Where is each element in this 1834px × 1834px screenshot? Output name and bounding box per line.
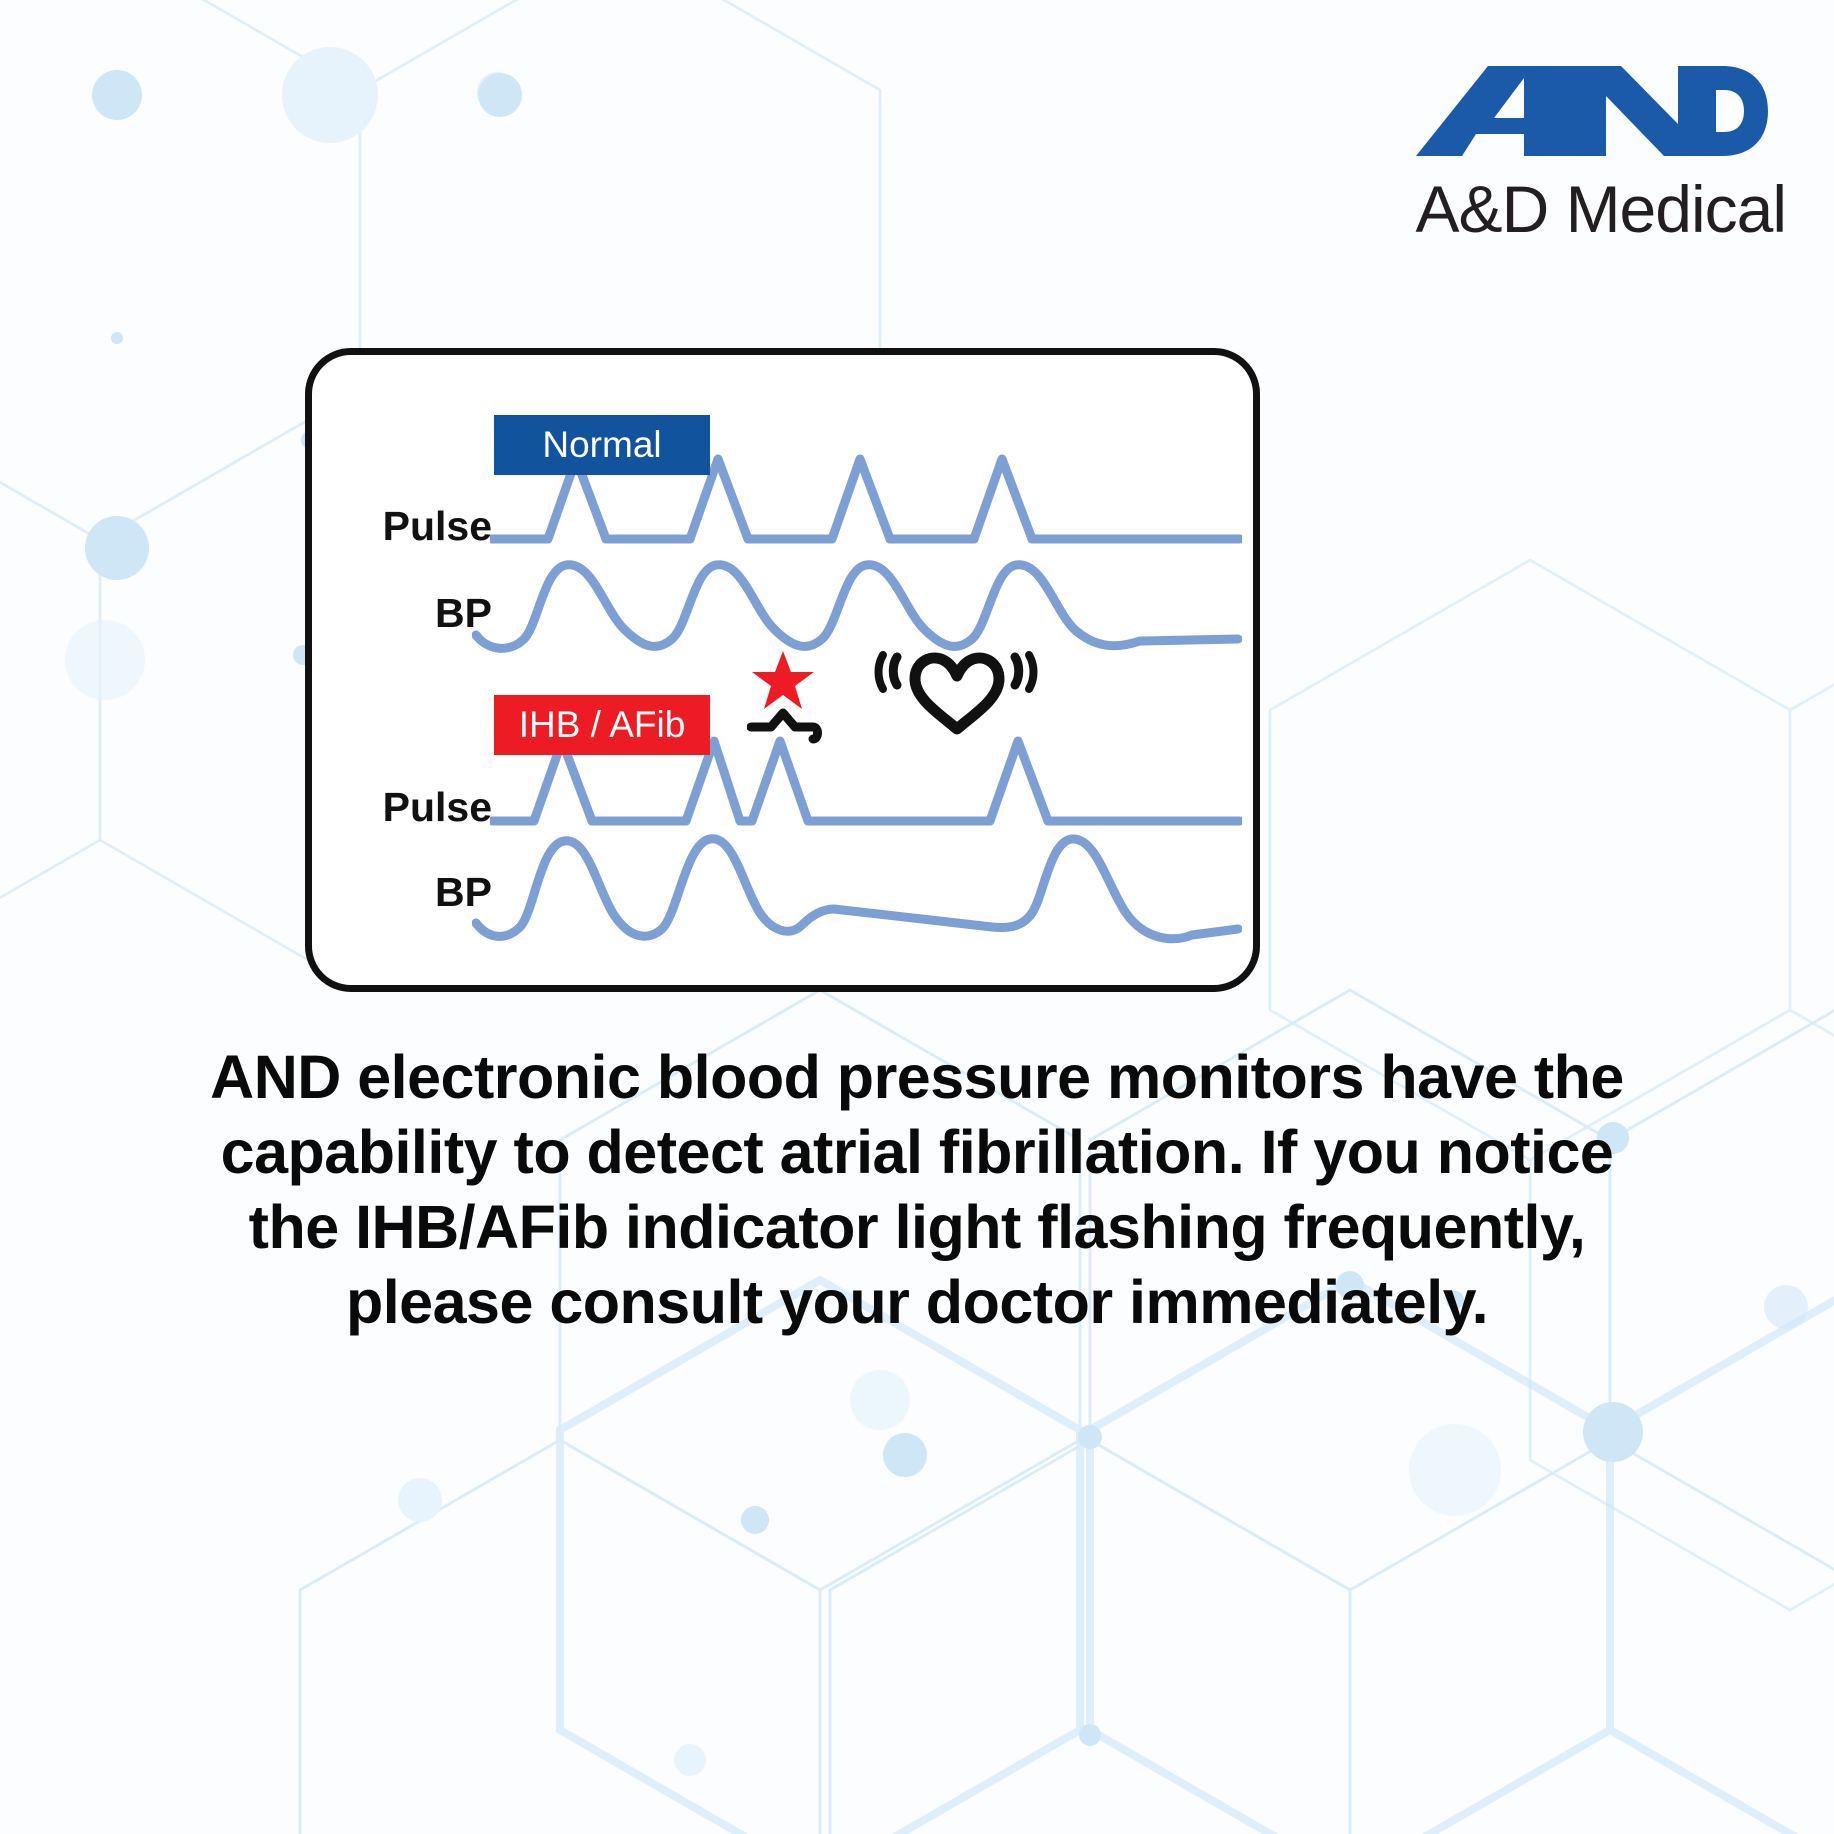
heart-pulsing-icon [915,658,999,729]
caption-text: AND electronic blood pressure monitors h… [90,1040,1744,1340]
brand-wordmark: A&D Medical [1416,176,1786,242]
label-pulse-normal: Pulse [332,502,492,550]
caption-line-1: AND electronic blood pressure monitors h… [90,1040,1744,1115]
alert-star-icon [752,651,814,709]
label-bp-afib: BP [332,868,492,916]
brand-logo: A&D Medical [1416,60,1786,242]
and-logo-mark [1416,60,1768,172]
heart-vibration-left-icon [879,655,898,689]
label-pulse-afib: Pulse [332,783,492,831]
badge-ihb-afib: IHB / AFib [494,695,710,755]
label-bp-normal: BP [332,589,492,637]
caption-line-3: the IHB/AFib indicator light flashing fr… [90,1190,1744,1265]
waveform-comparison-card: Normal IHB / AFib Pulse BP Pulse BP [305,348,1260,992]
caption-line-4: please consult your doctor immediately. [90,1265,1744,1340]
caption-line-2: capability to detect atrial fibrillation… [90,1115,1744,1190]
heart-vibration-right-icon [1015,655,1034,689]
afib-indicator-icons [747,645,1047,745]
badge-normal: Normal [494,415,710,475]
irregular-beat-marker-icon [751,713,818,739]
waveform-afib-bp [472,813,1242,958]
